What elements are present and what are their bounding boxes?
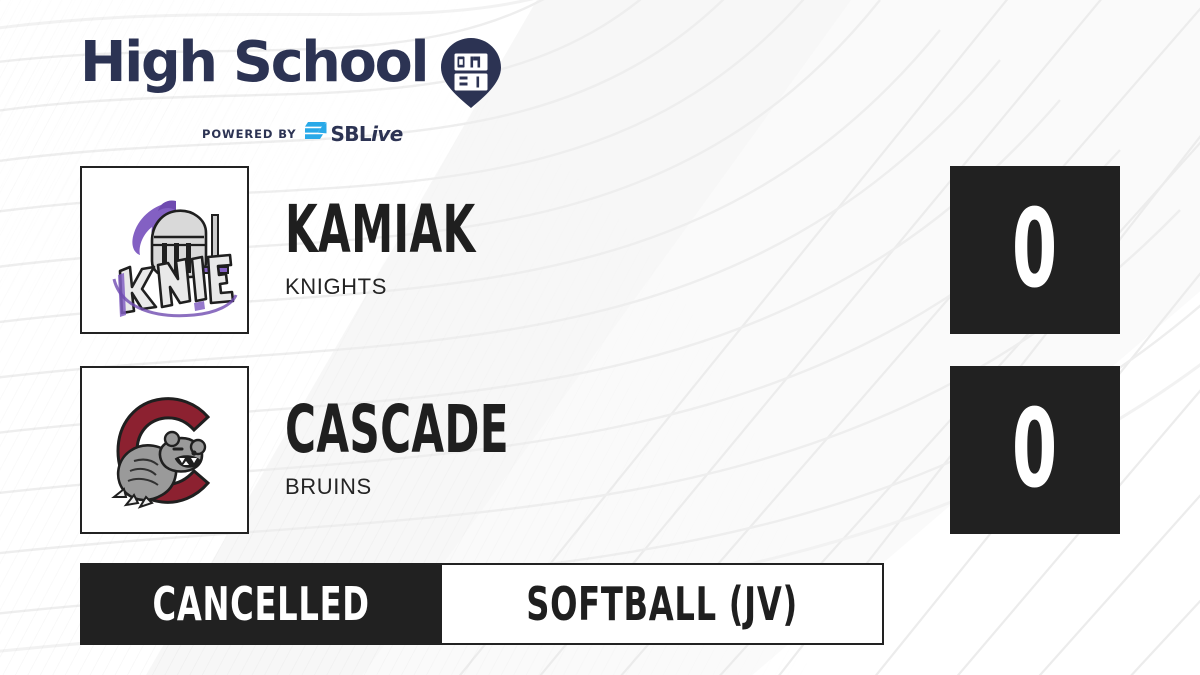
team-score-value: 0	[1012, 396, 1057, 504]
team-logo-box	[80, 366, 249, 534]
sblive-s-mark-icon	[305, 121, 327, 146]
team-name: KAMIAK	[285, 200, 476, 259]
team-score-box: 0	[950, 366, 1120, 534]
sblive-logo: SBLive	[305, 121, 402, 146]
sblive-word-italic: ive	[371, 122, 403, 146]
team-text-block: CASCADE BRUINS	[285, 366, 635, 534]
brand-header: High School	[80, 36, 502, 146]
team-row: KAMIAK KNIGHTS 0	[80, 166, 1120, 334]
brand-wordmark: High School	[80, 36, 427, 91]
kamiak-knights-logo-icon	[90, 175, 240, 325]
team-mascot: BRUINS	[285, 474, 635, 500]
team-row: CASCADE BRUINS 0	[80, 366, 1120, 534]
team-name: CASCADE	[285, 400, 509, 459]
on-si-pin-icon	[440, 37, 502, 114]
team-logo-box	[80, 166, 249, 334]
team-score-box: 0	[950, 166, 1120, 334]
powered-by-label: POWERED BY	[202, 127, 296, 141]
sport-label: SOFTBALL (JV)	[526, 581, 798, 627]
sblive-word-bold: SBL	[330, 122, 371, 146]
team-score-value: 0	[1012, 196, 1057, 304]
sport-badge: SOFTBALL (JV)	[442, 563, 884, 645]
powered-by-row: POWERED BY SBLive	[202, 121, 502, 146]
game-status-label: CANCELLED	[153, 581, 370, 627]
status-bar: CANCELLED SOFTBALL (JV)	[80, 563, 884, 645]
cascade-bruins-logo-icon	[90, 375, 240, 525]
sblive-wordmark: SBLive	[330, 124, 402, 144]
game-status-badge: CANCELLED	[80, 563, 442, 645]
team-mascot: KNIGHTS	[285, 274, 583, 300]
team-text-block: KAMIAK KNIGHTS	[285, 166, 583, 334]
